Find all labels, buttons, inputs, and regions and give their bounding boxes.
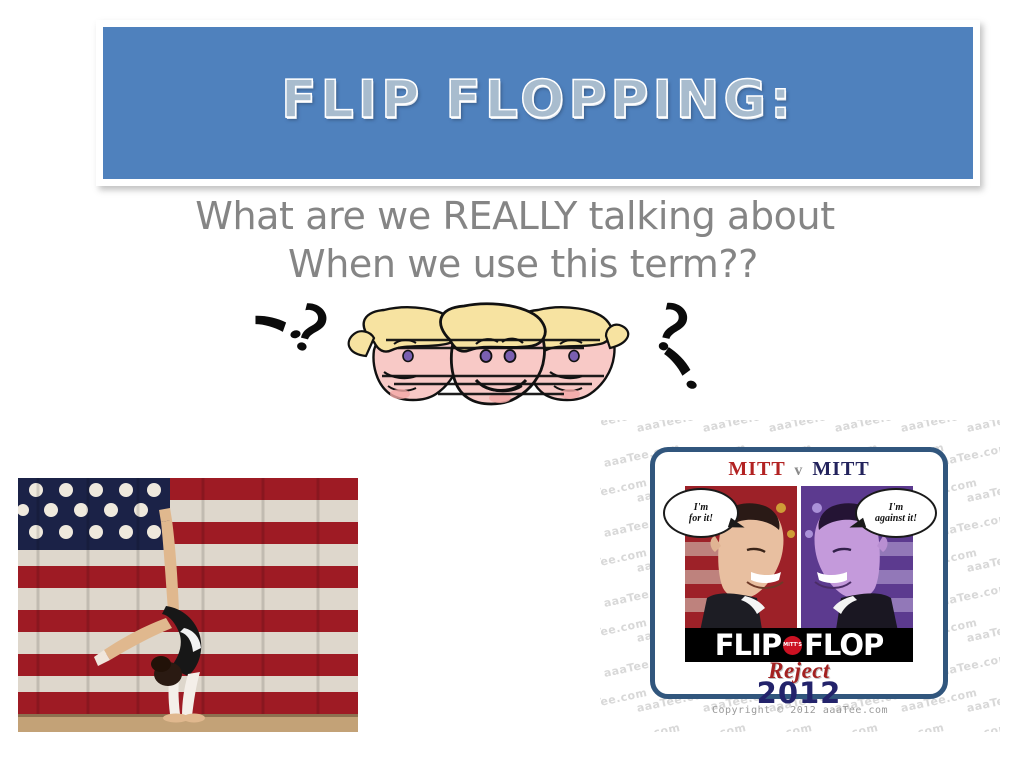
headline-versus: v [791,462,806,479]
title-box: FLIP FLOPPING: [103,27,973,179]
title-frame: FLIP FLOPPING: [96,20,980,186]
bubble-against-line-2: against it! [875,513,917,524]
subtitle-block: What are we REALLY talking about When we… [0,192,1024,288]
subtitle-line-1: What are we REALLY talking about [0,192,1024,240]
watermark-text: aaaTee.com [603,721,682,732]
bubble-against-line-1: I'm [889,502,903,513]
confused-head-shaking-woman-clipart [248,298,718,423]
speech-bubble-for-it: I'm for it! [663,488,739,538]
banner-word-flop: FLOP [804,630,883,660]
headline-mitt-left: MITT [728,458,785,480]
bubble-for-line-1: I'm [694,502,708,513]
subtitle-line-2: When we use this term?? [0,240,1024,288]
banner-word-flip: FLIP [715,630,781,660]
tee-card: MITT v MITT [650,447,948,699]
gymnast-handstand-us-flag-photo [18,478,358,732]
flip-flop-banner: FLIP MITT'S FLOP [685,628,913,662]
page-title: FLIP FLOPPING: [281,70,795,136]
copyright-notice: Copyright © 2012 aaaTee.com [600,705,1000,716]
speech-bubble-against-it: I'm against it! [855,488,937,538]
mitt-flip-flop-tee-graphic: aaaTee.comaaaTee.comaaaTee.comaaaTee.com… [600,420,1000,732]
bubble-for-line-2: for it! [689,513,713,524]
headline-mitt-right: MITT [812,458,869,480]
watermark-text: aaaTee.com [966,420,1000,435]
tee-headline: MITT v MITT [655,458,943,481]
banner-dot-badge: MITT'S [783,636,802,655]
